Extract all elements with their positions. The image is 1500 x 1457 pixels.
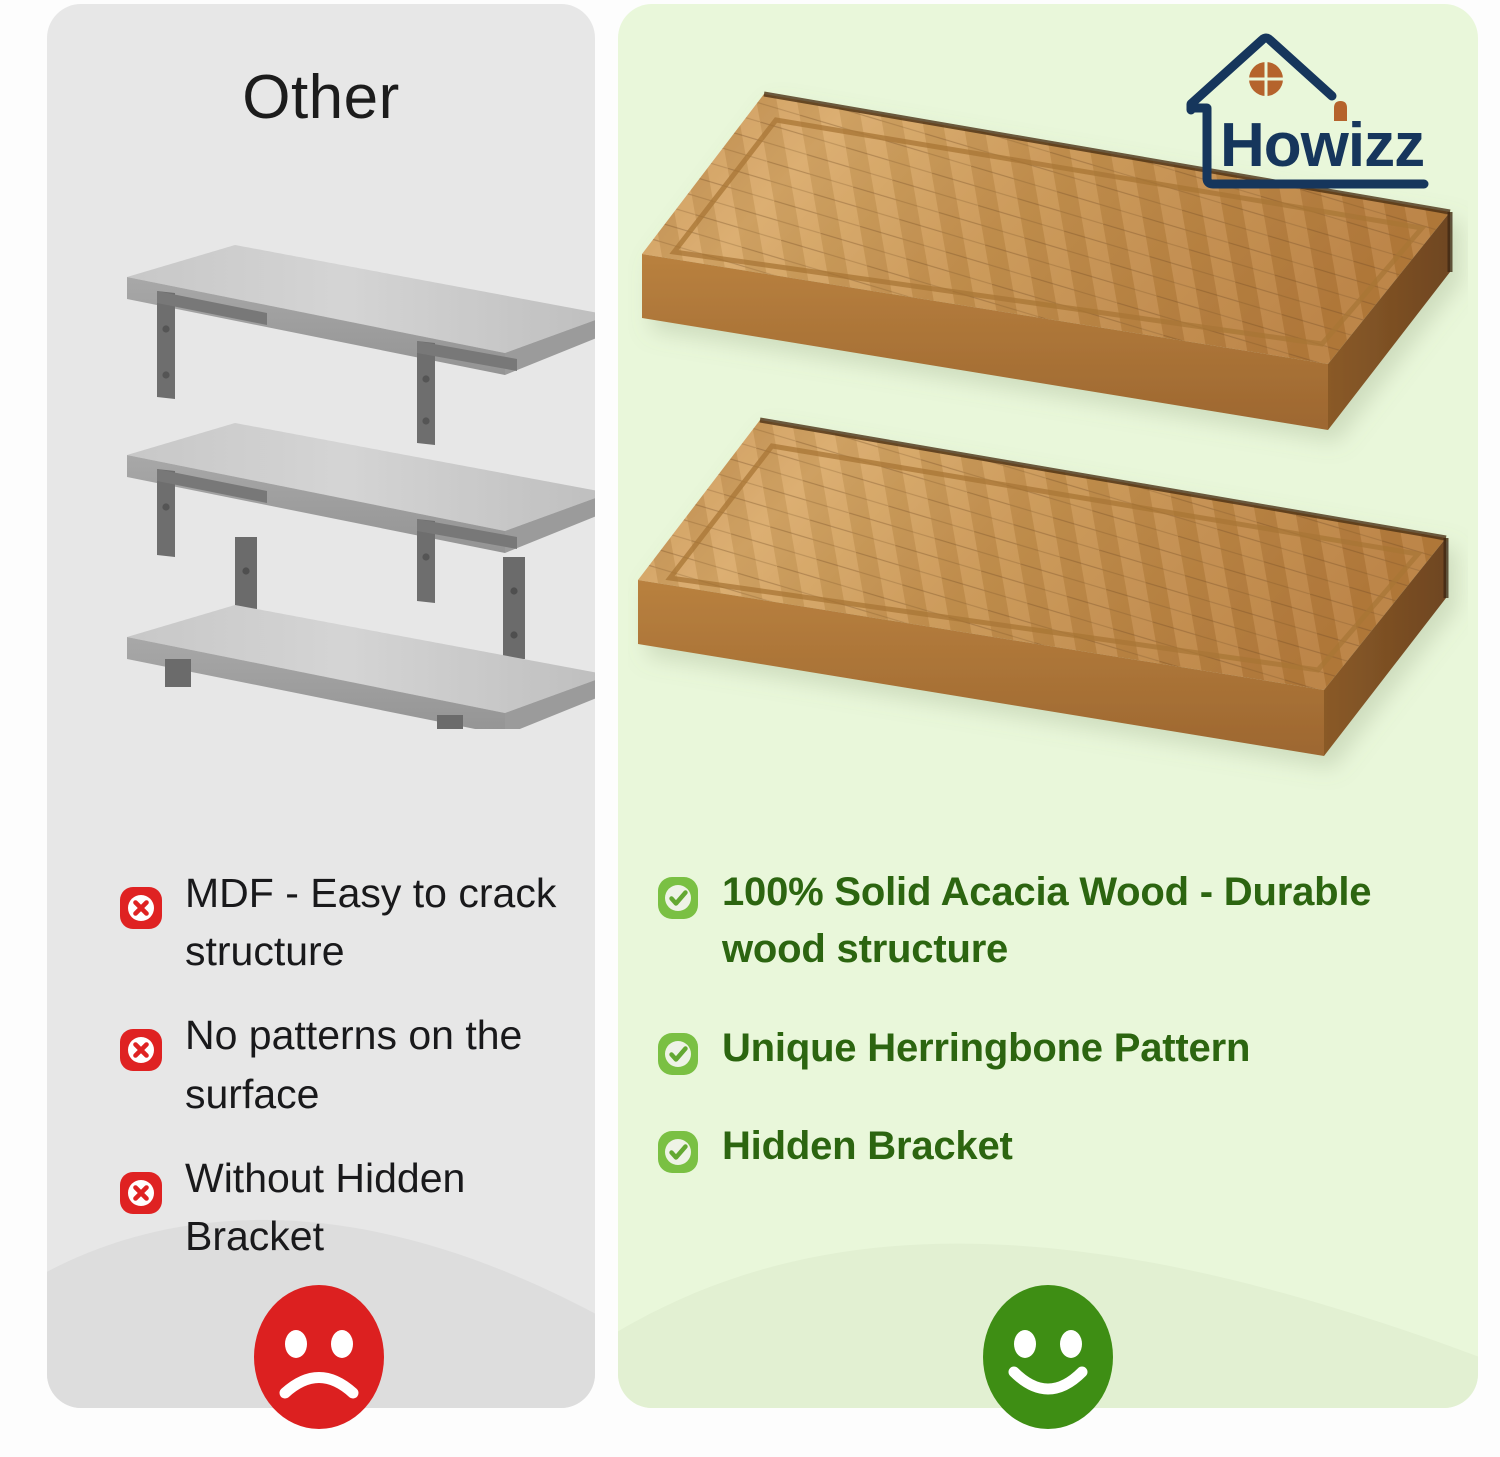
list-item: 100% Solid Acacia Wood - Durable wood st… <box>656 864 1438 978</box>
list-item-label: MDF - Easy to crack structure <box>185 864 565 980</box>
green-check-icon <box>656 1032 700 1076</box>
house-window-icon <box>1249 62 1283 96</box>
list-item: Unique Herringbone Pattern <box>656 1020 1438 1077</box>
red-x-icon <box>119 886 163 930</box>
left-bullet-list: MDF - Easy to crack structure No pattern… <box>47 864 595 1291</box>
page-title-other: Other <box>47 62 595 133</box>
comparison-graphic: Other <box>0 0 1500 1457</box>
grey-shelves-image <box>117 229 595 729</box>
right-bullet-list: 100% Solid Acacia Wood - Durable wood st… <box>618 864 1478 1217</box>
green-check-icon <box>656 876 700 920</box>
red-x-icon <box>119 1028 163 1072</box>
list-item: Hidden Bracket <box>656 1118 1438 1175</box>
happy-face-icon <box>978 1282 1118 1432</box>
list-item: Without Hidden Bracket <box>119 1149 565 1265</box>
sad-face-icon <box>249 1282 389 1432</box>
right-panel-howizz: Howizz 100% Solid Acacia Wood - Durable … <box>618 4 1478 1408</box>
list-item: No patterns on the surface <box>119 1006 565 1122</box>
list-item-label: 100% Solid Acacia Wood - Durable wood st… <box>722 864 1438 978</box>
list-item-label: No patterns on the surface <box>185 1006 565 1122</box>
list-item-label: Hidden Bracket <box>722 1118 1013 1175</box>
svg-text:Howizz: Howizz <box>1220 111 1424 180</box>
red-x-icon <box>119 1171 163 1215</box>
list-item-label: Unique Herringbone Pattern <box>722 1020 1250 1077</box>
list-item-label: Without Hidden Bracket <box>185 1149 565 1265</box>
left-panel-other: Other <box>47 4 595 1408</box>
howizz-logo: Howizz <box>1178 30 1434 202</box>
green-check-icon <box>656 1130 700 1174</box>
list-item: MDF - Easy to crack structure <box>119 864 565 980</box>
